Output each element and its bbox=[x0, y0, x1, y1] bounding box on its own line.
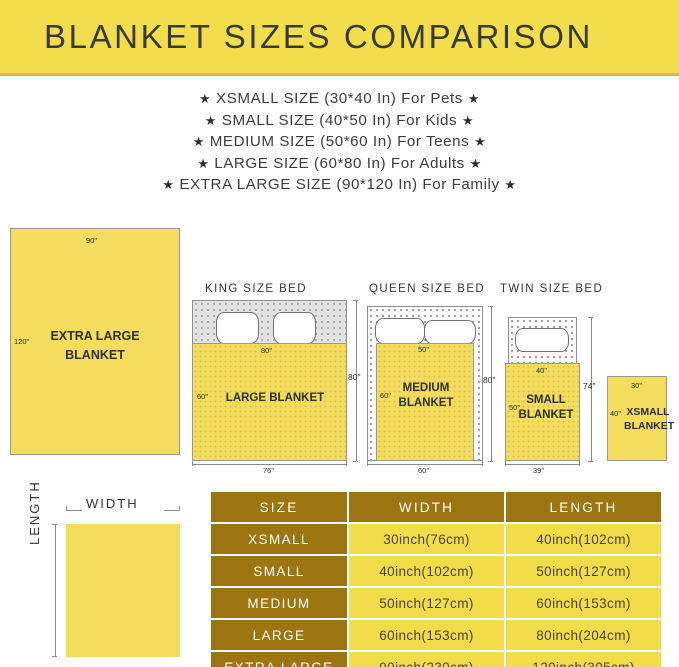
queen-height-tick-bottom bbox=[488, 461, 493, 462]
legend-width-tick-right bbox=[179, 506, 180, 511]
xsmall-left-dimension: 40" bbox=[610, 409, 621, 418]
legend-width-line-left bbox=[66, 510, 82, 511]
cell-width: 40inch(102cm) bbox=[349, 556, 504, 586]
legend-width-line-right bbox=[164, 510, 180, 511]
table-row: XSMALL 30inch(76cm) 40inch(102cm) bbox=[211, 524, 661, 554]
cell-width: 60inch(153cm) bbox=[349, 620, 504, 650]
extra-large-blanket-shape: EXTRA LARGE BLANKET bbox=[10, 228, 180, 455]
column-header-size: SIZE bbox=[211, 492, 347, 522]
cell-length: 60inch(153cm) bbox=[506, 588, 661, 618]
queen-bed-height-dimension: 80" bbox=[483, 375, 495, 385]
king-pillow-left bbox=[216, 312, 259, 344]
king-height-tick-top bbox=[353, 300, 358, 301]
cell-size: EXTRA LARGE bbox=[211, 652, 347, 667]
table-row: SMALL 40inch(102cm) 50inch(127cm) bbox=[211, 556, 661, 586]
queen-pillow-left bbox=[375, 318, 425, 344]
cell-length: 80inch(204cm) bbox=[506, 620, 661, 650]
king-bed-width-line bbox=[192, 464, 347, 465]
legend-blanket-shape bbox=[66, 524, 180, 657]
twin-small-blanket-label: SMALL BLANKET bbox=[515, 393, 577, 423]
twin-width-tick-left bbox=[505, 461, 506, 466]
legend-width-label: WIDTH bbox=[86, 496, 139, 511]
legend-width-tick-left bbox=[66, 506, 67, 511]
queen-blanket-width-dimension: 50" bbox=[418, 345, 429, 354]
legend-length-label: LENGTH bbox=[27, 480, 42, 545]
cell-size: XSMALL bbox=[211, 524, 347, 554]
table-row: LARGE 60inch(153cm) 80inch(204cm) bbox=[211, 620, 661, 650]
queen-width-tick-left bbox=[367, 461, 368, 466]
cell-length: 40inch(102cm) bbox=[506, 524, 661, 554]
cell-size: MEDIUM bbox=[211, 588, 347, 618]
table-row: MEDIUM 50inch(127cm) 60inch(153cm) bbox=[211, 588, 661, 618]
king-height-tick-bottom bbox=[353, 461, 358, 462]
extra-large-blanket-label: EXTRA LARGE BLANKET bbox=[11, 327, 179, 365]
king-bed-height-dimension: 80" bbox=[348, 372, 360, 382]
king-blanket-width-dimension: 80" bbox=[261, 346, 272, 355]
twin-width-tick-right bbox=[579, 461, 580, 466]
cell-size: SMALL bbox=[211, 556, 347, 586]
legend-length-tick-bottom bbox=[52, 656, 57, 657]
cell-width: 50inch(127cm) bbox=[349, 588, 504, 618]
cell-length: 50inch(127cm) bbox=[506, 556, 661, 586]
infographic-root: BLANKET SIZES COMPARISON ★ XSMALL SIZE (… bbox=[0, 0, 679, 667]
legend-length-tick-top bbox=[52, 524, 57, 525]
queen-bed-label: QUEEN SIZE BED bbox=[369, 283, 485, 295]
xsmall-blanket-label: XSMALL BLANKET bbox=[624, 405, 672, 433]
twin-pillow bbox=[515, 328, 569, 352]
extra-large-top-dimension: 90" bbox=[86, 236, 97, 245]
king-large-blanket-label: LARGE BLANKET bbox=[215, 391, 335, 406]
legend-length-line bbox=[55, 524, 56, 657]
twin-blanket-width-dimension: 40" bbox=[536, 366, 547, 375]
column-header-width: WIDTH bbox=[349, 492, 504, 522]
table-header-row: SIZE WIDTH LENGTH bbox=[211, 492, 661, 522]
twin-bed-width-dimension: 39" bbox=[533, 466, 544, 475]
extra-large-left-dimension: 120" bbox=[14, 337, 29, 346]
king-pillow-right bbox=[273, 312, 316, 344]
king-width-tick-right bbox=[346, 461, 347, 466]
size-comparison-table: SIZE WIDTH LENGTH XSMALL 30inch(76cm) 40… bbox=[209, 490, 663, 667]
column-header-length: LENGTH bbox=[506, 492, 661, 522]
cell-width: 90inch(230cm) bbox=[349, 652, 504, 667]
king-blanket-height-dimension: 60" bbox=[197, 392, 208, 401]
cell-length: 120inch(305cm) bbox=[506, 652, 661, 667]
queen-bed-width-dimension: 60" bbox=[418, 466, 429, 475]
king-bed-width-dimension: 76" bbox=[263, 466, 274, 475]
twin-bed-width-line bbox=[505, 464, 580, 465]
twin-height-tick-top bbox=[588, 317, 593, 318]
king-bed-label: KING SIZE BED bbox=[205, 283, 307, 295]
king-width-tick-left bbox=[192, 461, 193, 466]
queen-width-tick-right bbox=[482, 461, 483, 466]
twin-bed-height-dimension: 74" bbox=[583, 381, 595, 391]
queen-medium-blanket-label: MEDIUM BLANKET bbox=[386, 381, 466, 411]
queen-height-tick-top bbox=[488, 306, 493, 307]
cell-size: LARGE bbox=[211, 620, 347, 650]
twin-bed-label: TWIN SIZE BED bbox=[500, 283, 603, 295]
queen-pillow-right bbox=[424, 320, 476, 344]
table-row: EXTRA LARGE 90inch(230cm) 120inch(305cm) bbox=[211, 652, 661, 667]
twin-height-tick-bottom bbox=[588, 461, 593, 462]
cell-width: 30inch(76cm) bbox=[349, 524, 504, 554]
queen-bed-width-line bbox=[367, 464, 483, 465]
xsmall-top-dimension: 30" bbox=[631, 381, 642, 390]
